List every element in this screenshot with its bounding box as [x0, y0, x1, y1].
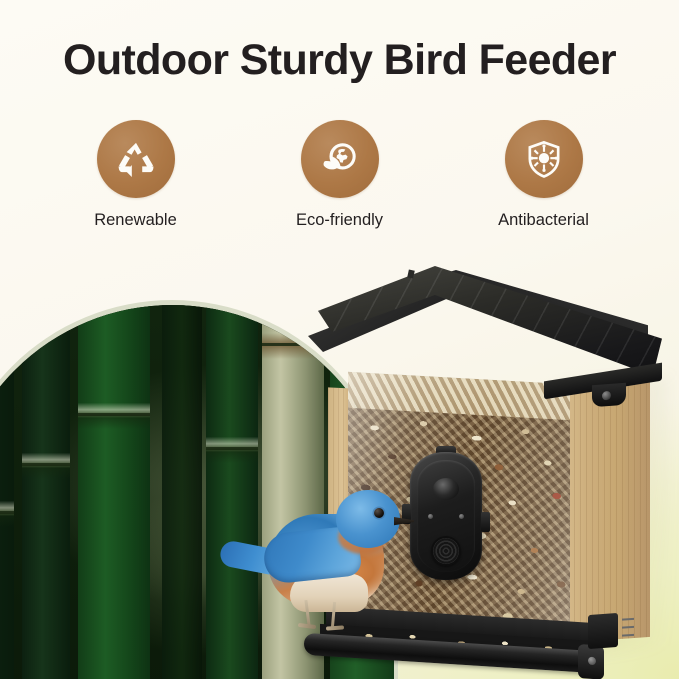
bird-foot	[326, 625, 344, 630]
bird-foot	[298, 623, 316, 629]
bird-head	[336, 490, 400, 548]
tray-hinge	[588, 613, 618, 649]
globe-leaf-icon	[319, 138, 361, 180]
bracket-pivot-icon	[602, 391, 611, 401]
perch-screw-icon	[588, 657, 596, 666]
feature-badge-label: Antibacterial	[498, 211, 589, 230]
feature-badge-label: Renewable	[94, 211, 177, 230]
camera-speaker-icon	[431, 536, 461, 566]
recycle-icon	[115, 138, 157, 180]
camera-sensor-icon	[428, 514, 433, 519]
shield-germ-icon	[524, 139, 564, 179]
bamboo-stalk	[162, 305, 202, 679]
feature-badge-label: Eco-friendly	[296, 211, 383, 230]
camera-clip-right	[481, 512, 490, 532]
feature-badge-row: Renewable Eco-friendly	[0, 120, 679, 230]
badge-circle	[97, 120, 175, 198]
feeder-wood-side-panel	[562, 377, 650, 643]
bird-beak	[394, 516, 414, 526]
feature-badge-eco-friendly: Eco-friendly	[285, 120, 395, 230]
mounting-bracket	[592, 383, 626, 407]
bird-eye-icon	[374, 508, 384, 518]
bamboo-stalk	[0, 305, 14, 679]
eastern-bluebird	[244, 468, 424, 653]
product-marketing-image: Outdoor Sturdy Bird Feeder Renewable	[0, 0, 679, 679]
feature-badge-renewable: Renewable	[81, 120, 191, 230]
badge-circle	[301, 120, 379, 198]
bamboo-stalk	[78, 305, 150, 679]
badge-circle	[505, 120, 583, 198]
camera-sensor-icon	[459, 514, 464, 519]
camera-lens-icon	[433, 478, 459, 500]
feature-badge-antibacterial: Antibacterial	[489, 120, 599, 230]
bamboo-stalk	[22, 305, 70, 679]
page-title: Outdoor Sturdy Bird Feeder	[0, 38, 679, 83]
